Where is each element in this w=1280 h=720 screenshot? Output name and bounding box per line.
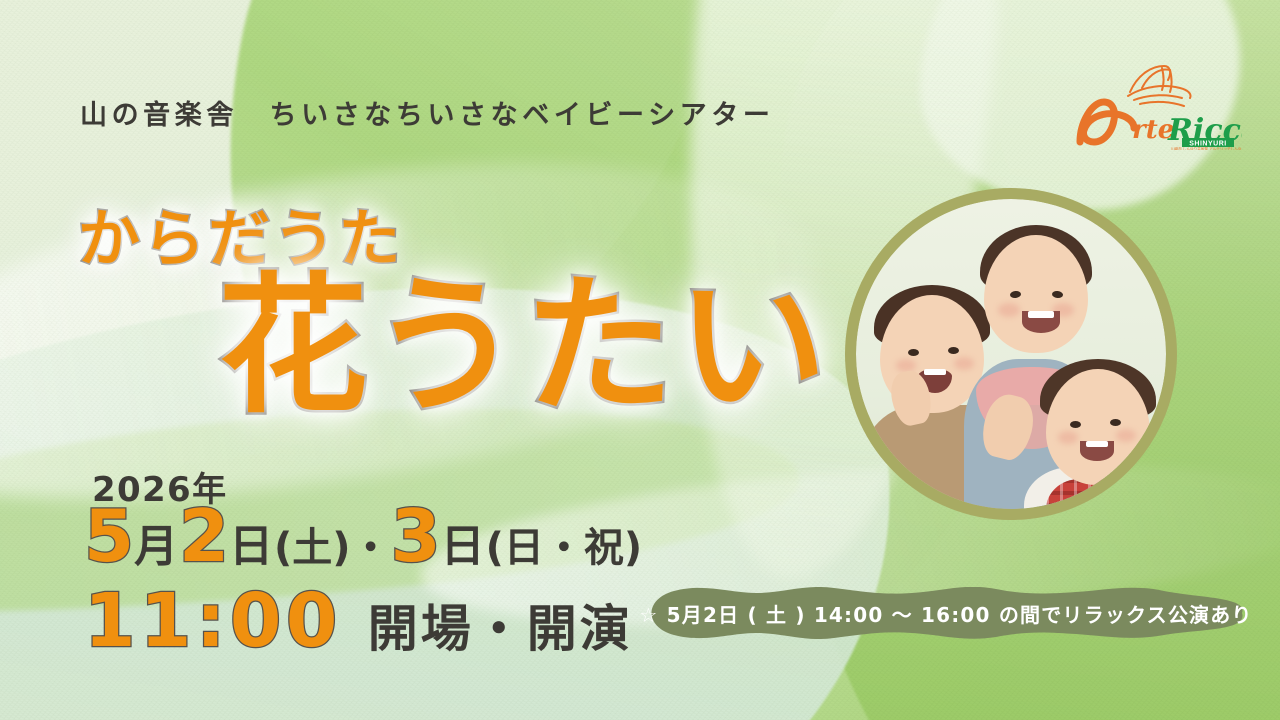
- baby-center-teeth: [1028, 311, 1054, 318]
- date-main-line: 5 月 2 日 (土) ・ 3 日 (日・祝): [84, 500, 642, 572]
- arte-ricca-logo[interactable]: rte Ricca SHINYURI 川崎市 しんゆり芸術祭 アルテリッチしんゆ…: [1072, 58, 1242, 150]
- photo-circle: [845, 188, 1177, 520]
- date-day2-unit: 日: [441, 525, 486, 569]
- date-separator: ・: [351, 528, 391, 568]
- date-day1-unit: 日: [229, 525, 274, 569]
- baby-center-head: [984, 235, 1088, 353]
- date-month-unit: 月: [134, 525, 179, 569]
- photo-image: [856, 199, 1166, 509]
- baby-right-teeth: [1086, 441, 1108, 447]
- time-value: 11:00: [84, 584, 342, 658]
- baby-right-head: [1046, 369, 1150, 485]
- title-large: 花うたい: [218, 272, 830, 422]
- baby-center-cheek-left: [998, 303, 1020, 317]
- time-row: 11:00 開場・開演: [84, 584, 633, 661]
- date-day1-number: 2: [179, 500, 229, 572]
- baby-right-eye-left: [1070, 421, 1081, 428]
- baby-right-eye-right: [1110, 419, 1121, 426]
- baby-left-eye-right: [948, 347, 959, 354]
- note-text: ☆ 5月2日 ( 土 ) 14:00 〜 16:00 の間でリラックス公演あり: [644, 587, 1248, 639]
- logo-mark: rte Ricca SHINYURI 川崎市 しんゆり芸術祭 アルテリッチしんゆ…: [1072, 58, 1242, 150]
- baby-left-teeth: [924, 369, 946, 375]
- logo-tagline: 川崎市 しんゆり芸術祭 アルテリッチしんゆり: [1171, 146, 1242, 150]
- date-day1-weekday: (土): [274, 528, 351, 568]
- date-day2-weekday: (日・祝): [486, 528, 643, 568]
- baby-right-cheek-left: [1058, 431, 1078, 444]
- poster-root: 山の音楽舎 ちいさなちいさなベイビーシアター からだうた 花うたい 2026年 …: [0, 0, 1280, 720]
- baby-right-cheek-right: [1116, 429, 1136, 442]
- organizer-line: 山の音楽舎 ちいさなちいさなベイビーシアター: [80, 93, 774, 132]
- time-label: 開場・開演: [368, 589, 633, 661]
- date-month-number: 5: [84, 500, 134, 572]
- baby-left-cheek-right: [954, 357, 974, 370]
- relax-performance-note: ☆ 5月2日 ( 土 ) 14:00 〜 16:00 の間でリラックス公演あり: [644, 587, 1248, 639]
- date-day2-number: 3: [391, 500, 441, 572]
- baby-left-eye-left: [908, 349, 919, 356]
